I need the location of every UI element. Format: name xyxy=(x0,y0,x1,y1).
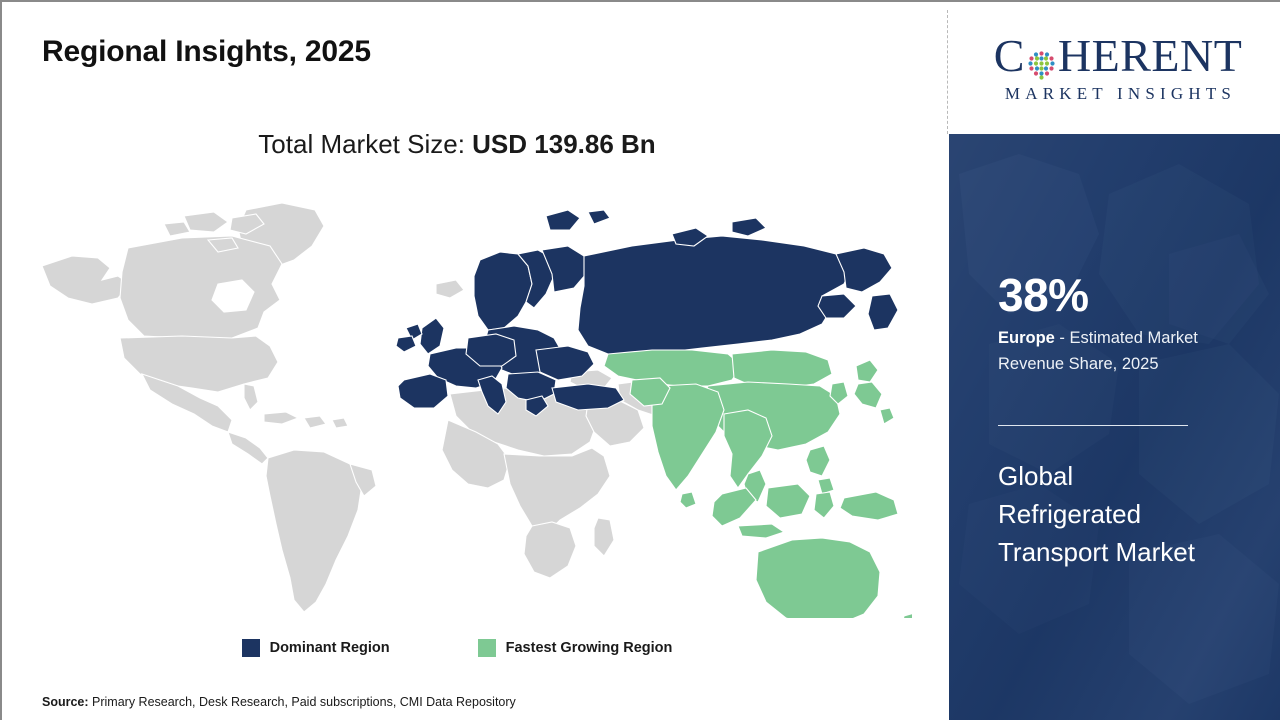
legend-item-fastest-growing: Fastest Growing Region xyxy=(478,639,673,657)
globe-dots-icon xyxy=(1026,42,1057,73)
stat-description: Europe - Estimated Market Revenue Share,… xyxy=(998,326,1241,377)
left-content-pane: Regional Insights, 2025 Total Market Siz… xyxy=(2,2,948,720)
regional-insights-infographic: Regional Insights, 2025 Total Market Siz… xyxy=(0,0,1280,720)
page-title: Regional Insights, 2025 xyxy=(42,35,371,69)
legend-label-fastest-growing: Fastest Growing Region xyxy=(506,640,673,656)
total-market-size-label: Total Market Size: xyxy=(258,129,472,159)
source-text: Primary Research, Desk Research, Paid su… xyxy=(89,695,516,709)
market-name: Global Refrigerated Transport Market xyxy=(998,457,1223,572)
logo-letter-c: C xyxy=(994,33,1025,79)
legend-label-dominant: Dominant Region xyxy=(270,640,390,656)
coherent-market-insights-logo[interactable]: C xyxy=(964,20,1272,116)
stat-region-name: Europe xyxy=(998,329,1055,347)
total-market-size-value: USD 139.86 Bn xyxy=(472,129,656,159)
stat-percentage: 38% xyxy=(998,272,1089,318)
vertical-dashed-divider xyxy=(947,10,948,134)
legend-swatch-fastest-icon xyxy=(478,639,496,657)
total-market-size: Total Market Size: USD 139.86 Bn xyxy=(2,129,912,160)
logo-subtitle: MARKET INSIGHTS xyxy=(1000,84,1236,104)
logo-letters-herent: HERENT xyxy=(1058,33,1242,79)
map-region-fastest-growing xyxy=(604,350,912,618)
panel-content: 38% Europe - Estimated Market Revenue Sh… xyxy=(998,134,1248,720)
world-map[interactable] xyxy=(32,188,912,618)
stat-panel: 38% Europe - Estimated Market Revenue Sh… xyxy=(949,134,1280,720)
panel-divider-line xyxy=(998,425,1188,426)
legend-swatch-dominant-icon xyxy=(242,639,260,657)
source-note: Source: Primary Research, Desk Research,… xyxy=(42,695,516,709)
logo-wordmark: C xyxy=(994,33,1243,79)
legend-item-dominant: Dominant Region xyxy=(242,639,390,657)
source-label: Source: xyxy=(42,695,89,709)
map-legend: Dominant Region Fastest Growing Region xyxy=(2,639,912,657)
